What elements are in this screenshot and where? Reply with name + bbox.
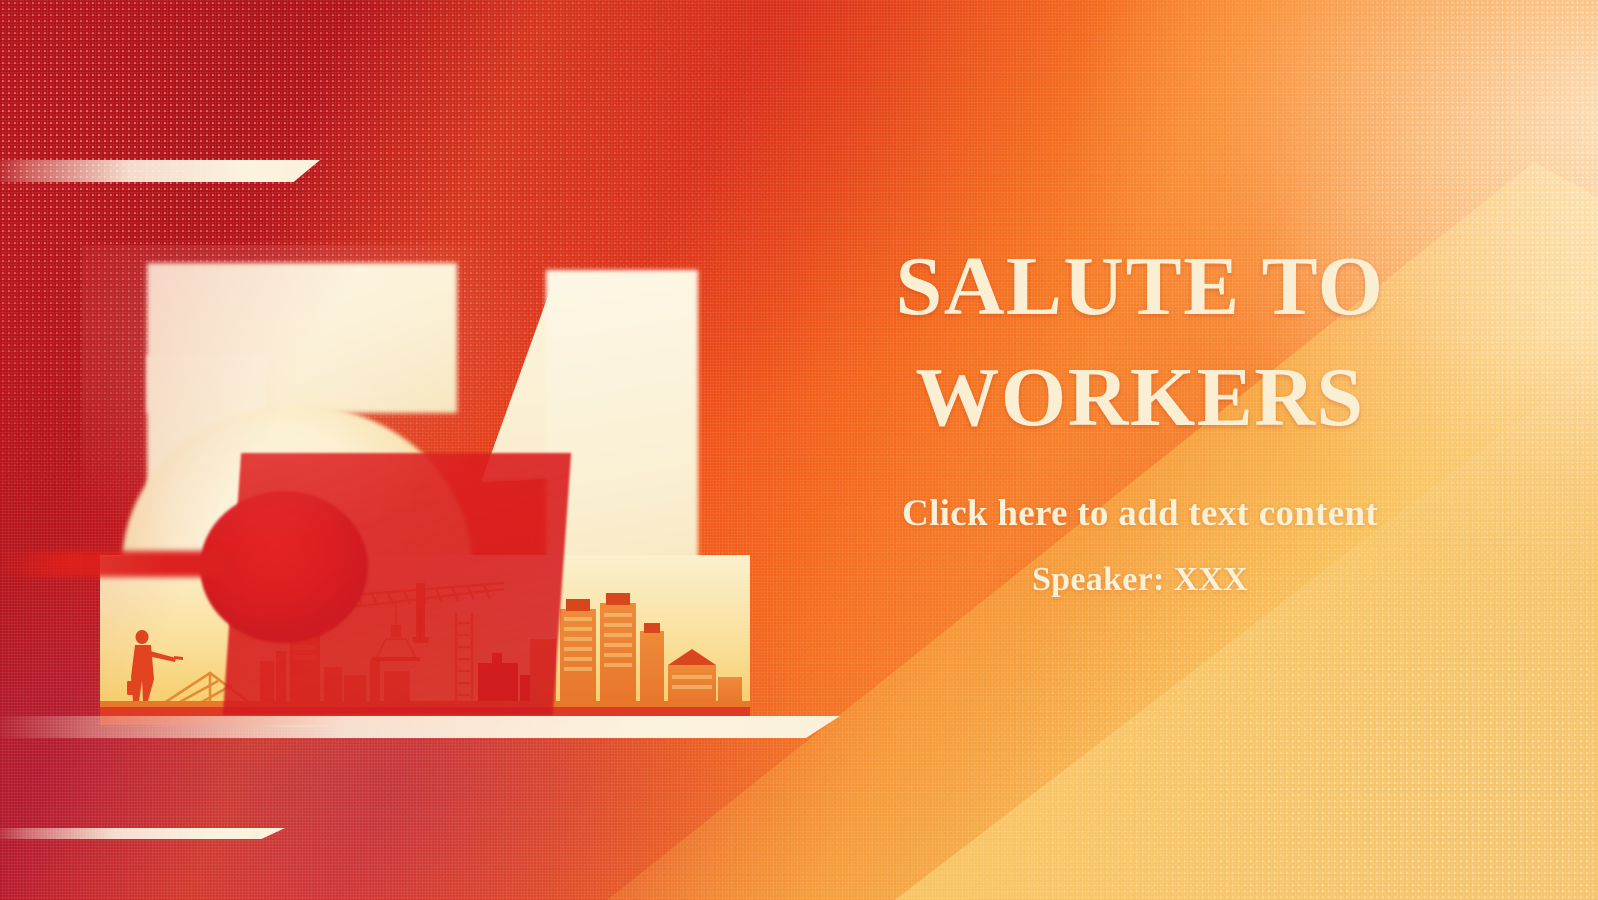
headline-line-2: WORKERS [915,351,1364,444]
slide-text-block: SALUTE TO WORKERS Click here to add text… [800,232,1480,599]
headline-line-1: SALUTE TO [896,240,1385,333]
presentation-slide: SALUTE TO WORKERS Click here to add text… [0,0,1598,900]
page-title: SALUTE TO WORKERS [800,232,1480,454]
numeral-51-artwork [92,255,772,735]
subtitle-placeholder[interactable]: Click here to add text content [800,492,1480,535]
accent-stripe-bottom [0,828,285,839]
accent-stripe-top [0,160,320,182]
speaker-label[interactable]: Speaker: XXX [800,561,1480,599]
numeral-five-slash [0,551,236,577]
accent-stripe-middle [0,716,840,738]
